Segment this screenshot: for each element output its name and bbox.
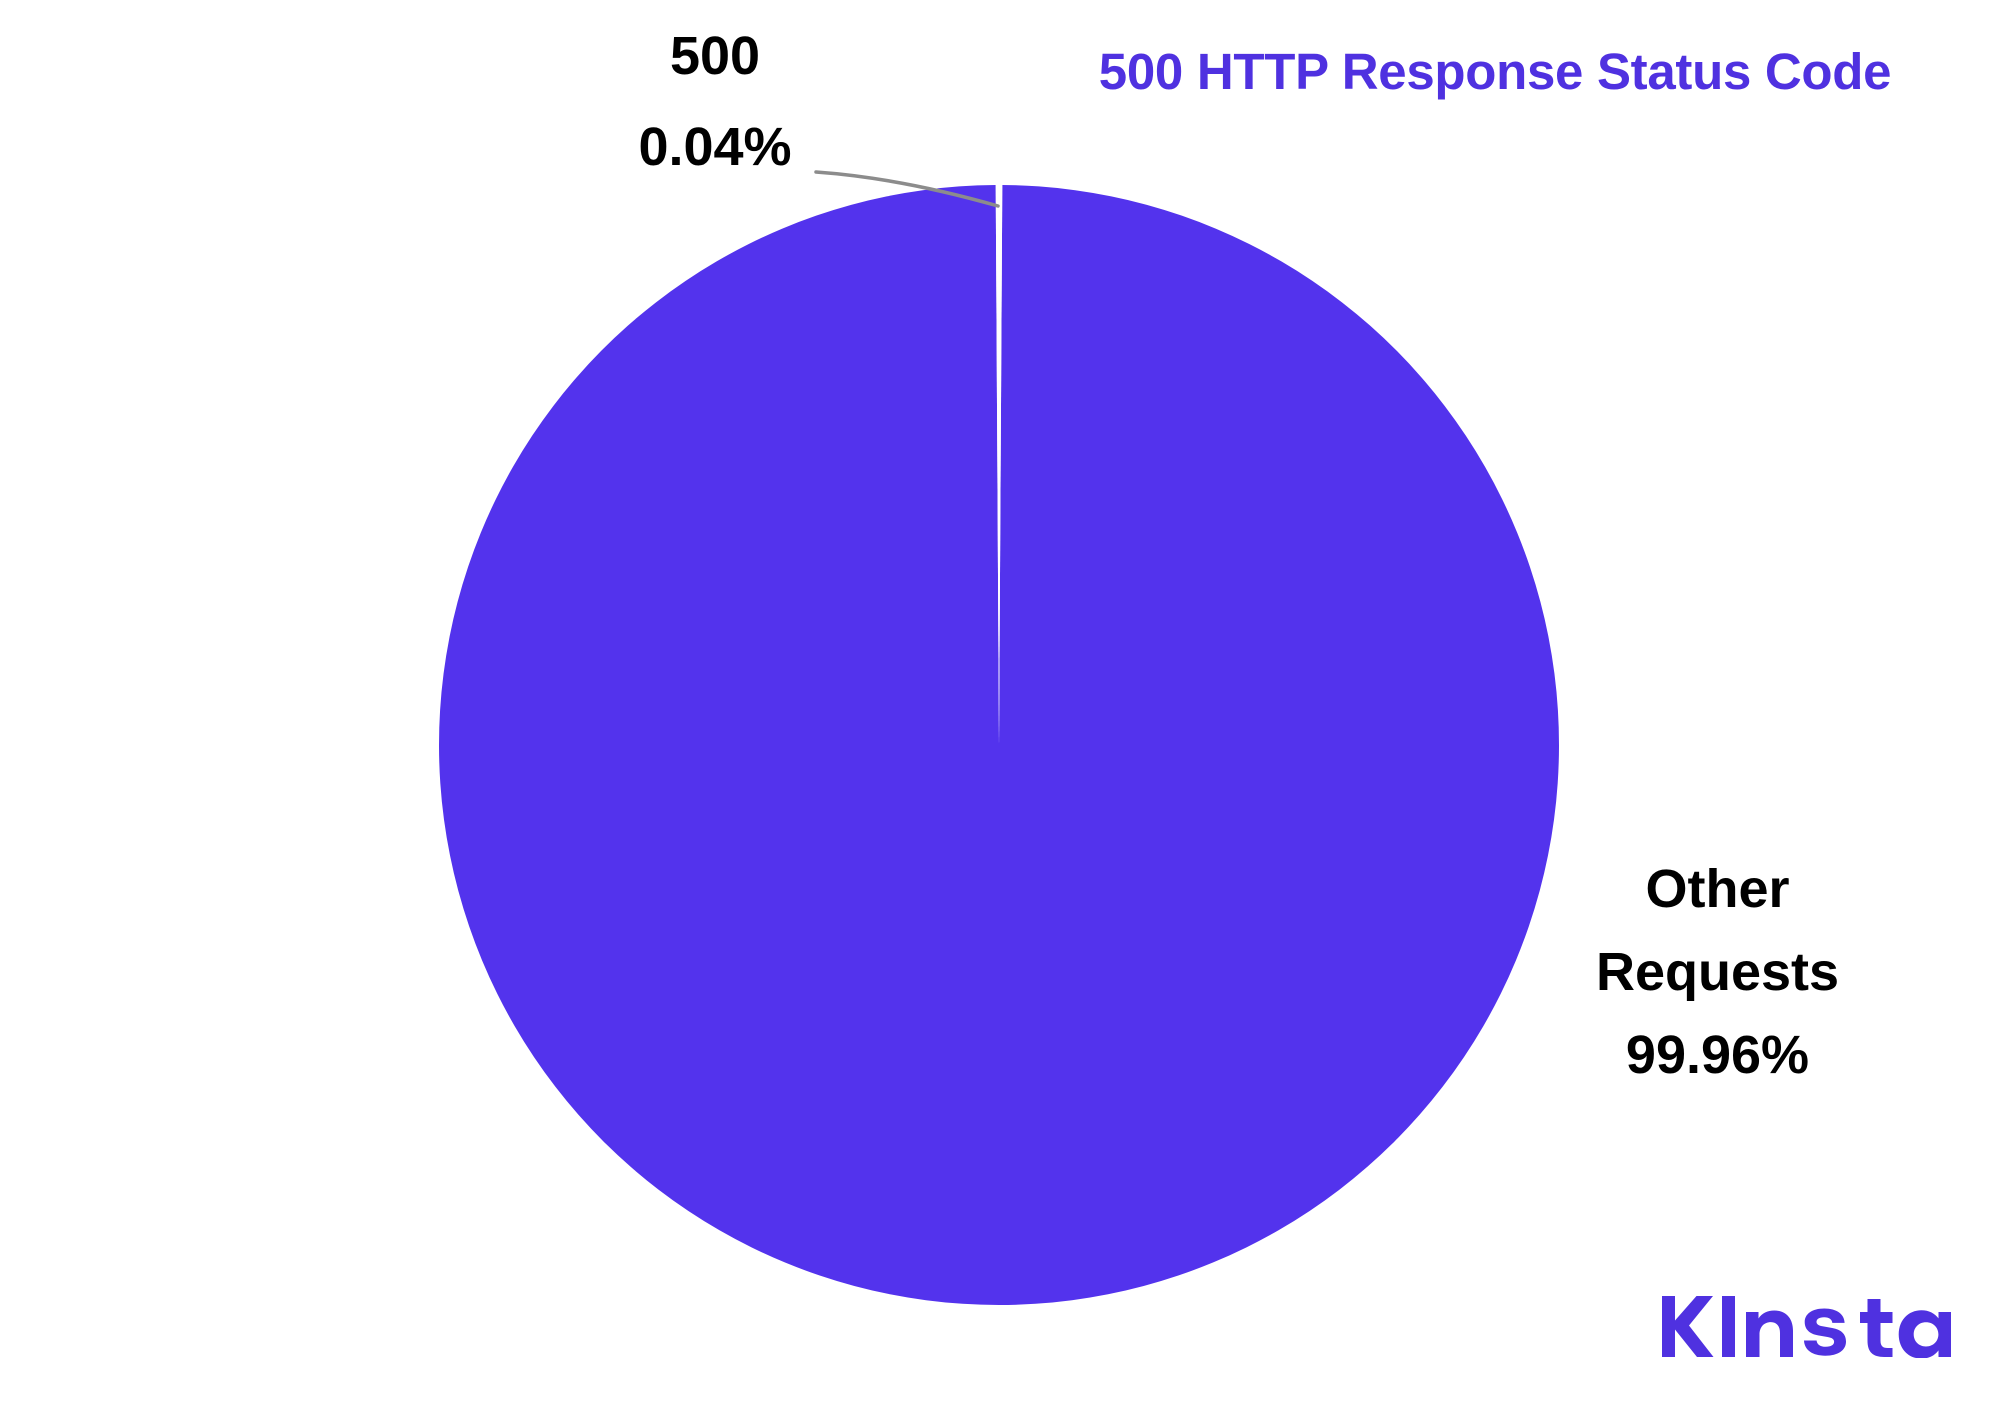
slice-label-500: 500 0.04%	[515, 22, 915, 182]
kinsta-logo	[1662, 1296, 1952, 1358]
slice-label-other-percent: 99.96%	[1545, 1021, 1890, 1090]
slice-label-500-name: 500	[515, 22, 915, 91]
pie-chart	[0, 0, 1991, 1416]
slice-label-500-percent: 0.04%	[515, 113, 915, 182]
pie-slice-other-requests[interactable]	[439, 185, 1559, 1305]
chart-title: 500 HTTP Response Status Code	[1030, 44, 1960, 100]
slice-label-other-name-line1: Other	[1545, 855, 1890, 924]
slice-label-other-requests: Other Requests 99.96%	[1545, 855, 1890, 1090]
chart-canvas: 500 HTTP Response Status Code 500 0.04% …	[0, 0, 1991, 1416]
kinsta-wordmark-glyphs	[1662, 1296, 1951, 1358]
slice-label-other-name-line2: Requests	[1545, 938, 1890, 1007]
pie-slice-500[interactable]	[996, 185, 1003, 745]
